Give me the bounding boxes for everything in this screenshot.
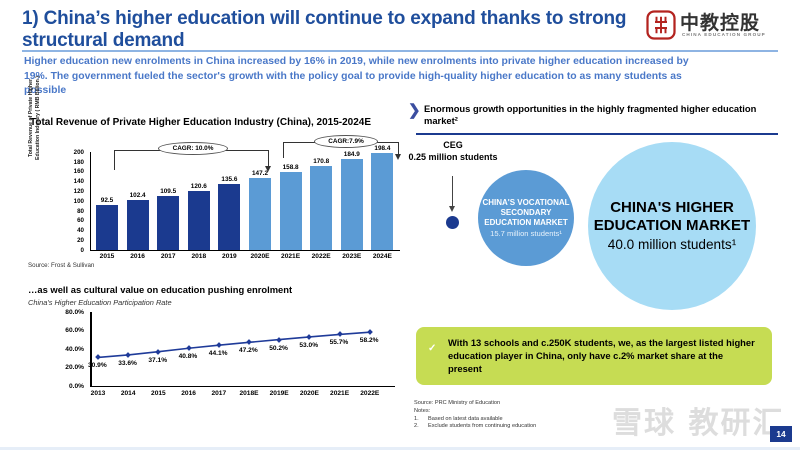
bar [280,172,302,250]
line-x-label: 2019E [262,390,296,397]
bar-value-label: 170.8 [305,158,337,165]
bar-chart-y-axis-title: Total Revenue of Private Higher Educatio… [28,74,41,162]
higher-education-market-value: 40.0 million students¹ [608,236,736,253]
bar [249,178,271,250]
bar-rect [249,178,271,250]
line-x-label: 2015 [141,390,175,397]
bar-value-label: 92.5 [91,197,123,204]
check-icon: ✓ [428,343,436,354]
bar-y-tick: 140 [62,178,84,185]
bar-rect [96,205,118,250]
line-value-label: 58.2% [360,337,379,344]
line-value-label: 33.6% [118,360,137,367]
cagr1-bracket-right [268,150,269,166]
bar-chart-title: Total Revenue of Private Higher Educatio… [30,117,371,128]
bar [188,191,210,250]
line-chart-y-axis [90,312,92,386]
callout-text: With 13 schools and c.250K students, we,… [448,336,758,376]
line-value-label: 37.1% [148,357,167,364]
bar-rect [371,153,393,250]
page-number-badge: 14 [770,426,792,442]
bar-rect [310,166,332,250]
bar-x-label: 2024E [365,253,399,260]
logo-chinese-text: 中教控股 [680,8,760,35]
line-data-point [246,339,252,345]
bar-value-label: 135.6 [213,176,245,183]
header-divider [22,50,778,52]
bar-y-tick: 200 [62,149,84,156]
bar-x-label: 2023E [335,253,369,260]
bar-y-tick: 0 [62,247,84,254]
bar-value-label: 147.2 [244,170,276,177]
line-y-tick: 20.0% [56,364,84,371]
bar-value-label: 198.4 [366,145,398,152]
bar-y-tick: 160 [62,168,84,175]
bar [371,153,393,250]
line-value-label: 40.8% [179,353,198,360]
line-x-label: 2016 [172,390,206,397]
bar-y-tick: 20 [62,237,84,244]
footnote-2-text: Exclude students from continuing educati… [428,423,536,429]
cagr2-bracket-left [283,142,284,158]
line-data-point [307,334,313,340]
line-y-tick: 80.0% [56,309,84,316]
line-data-point [125,352,131,358]
bar-x-label: 2020E [243,253,277,260]
bar [218,184,240,250]
footnote-1-text: Based on latest data available [428,416,503,422]
bar-rect [127,200,149,250]
bar-y-tick: 120 [62,188,84,195]
cagr1-bracket-left [114,150,115,170]
watermark: 雪球 教研汇 [612,398,784,442]
ceg-value: 0.25 million students [408,152,498,164]
higher-education-market-title: CHINA'S HIGHER EDUCATION MARKET [588,199,756,235]
line-x-label: 2021E [323,390,357,397]
line-y-tick: 40.0% [56,346,84,353]
bar [96,205,118,250]
slide: 1) China’s higher education will continu… [0,0,800,450]
bar-x-label: 2021E [274,253,308,260]
line-value-label: 30.9% [88,362,107,369]
bar-chart-bars [92,152,400,250]
bar-value-label: 158.8 [275,164,307,171]
line-x-label: 2020E [292,390,326,397]
bar-y-tick: 60 [62,217,84,224]
seal-icon [646,10,676,40]
footnote-2-number: 2. [414,423,428,431]
line-y-tick: 0.0% [56,383,84,390]
bar-x-label: 2018 [182,253,216,260]
bar-y-tick: 80 [62,208,84,215]
line-chart-x-axis [90,386,395,387]
bar-rect [157,196,179,250]
chevron-right-icon: ❯ [408,104,421,118]
line-x-label: 2014 [111,390,145,397]
right-divider [416,133,778,135]
bar-x-label: 2017 [151,253,185,260]
bar-rect [280,172,302,250]
page-title: 1) China’s higher education will continu… [22,8,642,52]
bar-value-label: 109.5 [152,188,184,195]
line-data-point [337,332,343,338]
bar-rect [341,159,363,250]
bar-chart-source: Source: Frost & Sullivan [28,262,94,269]
company-logo: 中教控股 CHINA EDUCATION GROUP [646,8,786,48]
line-value-label: 53.0% [299,342,318,349]
vocational-market-title: CHINA'S VOCATIONAL SECONDARY EDUCATION M… [478,198,574,228]
bar-chart-x-axis [90,250,400,251]
line-y-tick: 60.0% [56,327,84,334]
bar-x-label: 2016 [121,253,155,260]
line-x-label: 2018E [232,390,266,397]
footnote-1-number: 1. [414,416,428,424]
bar-rect [188,191,210,250]
higher-education-market-bubble: CHINA'S HIGHER EDUCATION MARKET 40.0 mil… [588,142,756,310]
bar-x-label: 2022E [304,253,338,260]
bar-rect [218,184,240,250]
bar [127,200,149,250]
bar-x-label: 2015 [90,253,124,260]
line-data-point [367,329,373,335]
page-subtitle: Higher education new enrolments in China… [24,55,704,99]
bar-value-label: 184.9 [336,151,368,158]
right-headline: Enormous growth opportunities in the hig… [424,103,774,128]
vocational-market-value: 15.7 million students¹ [490,229,562,238]
ceg-arrow-head-icon [449,206,455,212]
logo-english-text: CHINA EDUCATION GROUP [682,32,766,37]
callout-box: ✓ With 13 schools and c.250K students, w… [416,327,772,385]
line-value-label: 50.2% [269,345,288,352]
line-value-label: 55.7% [330,339,349,346]
cagr2-arrowhead [395,154,401,160]
bar-x-label: 2019 [212,253,246,260]
line-data-point [186,345,192,351]
line-chart-subtitle: China's Higher Education Participation R… [28,298,172,307]
line-data-point [216,342,222,348]
bar-y-tick: 40 [62,227,84,234]
bar [310,166,332,250]
ceg-callout: CEG 0.25 million students [408,140,498,163]
line-x-label: 2013 [81,390,115,397]
bar-chart: Total Revenue of Private Higher Educatio… [30,140,400,270]
ceg-label: CEG [408,140,498,152]
line-data-point [276,337,282,343]
ceg-bubble [446,216,459,229]
ceg-arrow-line [452,176,453,208]
bar-value-label: 102.4 [122,192,154,199]
bar [157,196,179,250]
line-x-label: 2017 [202,390,236,397]
line-value-label: 47.2% [239,347,258,354]
line-data-point [156,349,162,355]
bar [341,159,363,250]
line-chart-heading: …as well as cultural value on education … [28,284,292,295]
line-data-point [95,355,101,361]
vocational-market-bubble: CHINA'S VOCATIONAL SECONDARY EDUCATION M… [478,170,574,266]
bar-y-tick: 180 [62,159,84,166]
cagr1-label: CAGR: 10.0% [158,142,228,155]
bar-value-label: 120.6 [183,183,215,190]
line-value-label: 44.1% [209,350,228,357]
bar-y-tick: 100 [62,198,84,205]
line-x-label: 2022E [353,390,387,397]
line-chart: 0.0%20.0%40.0%60.0%80.0% 30.9%33.6%37.1%… [30,308,400,406]
